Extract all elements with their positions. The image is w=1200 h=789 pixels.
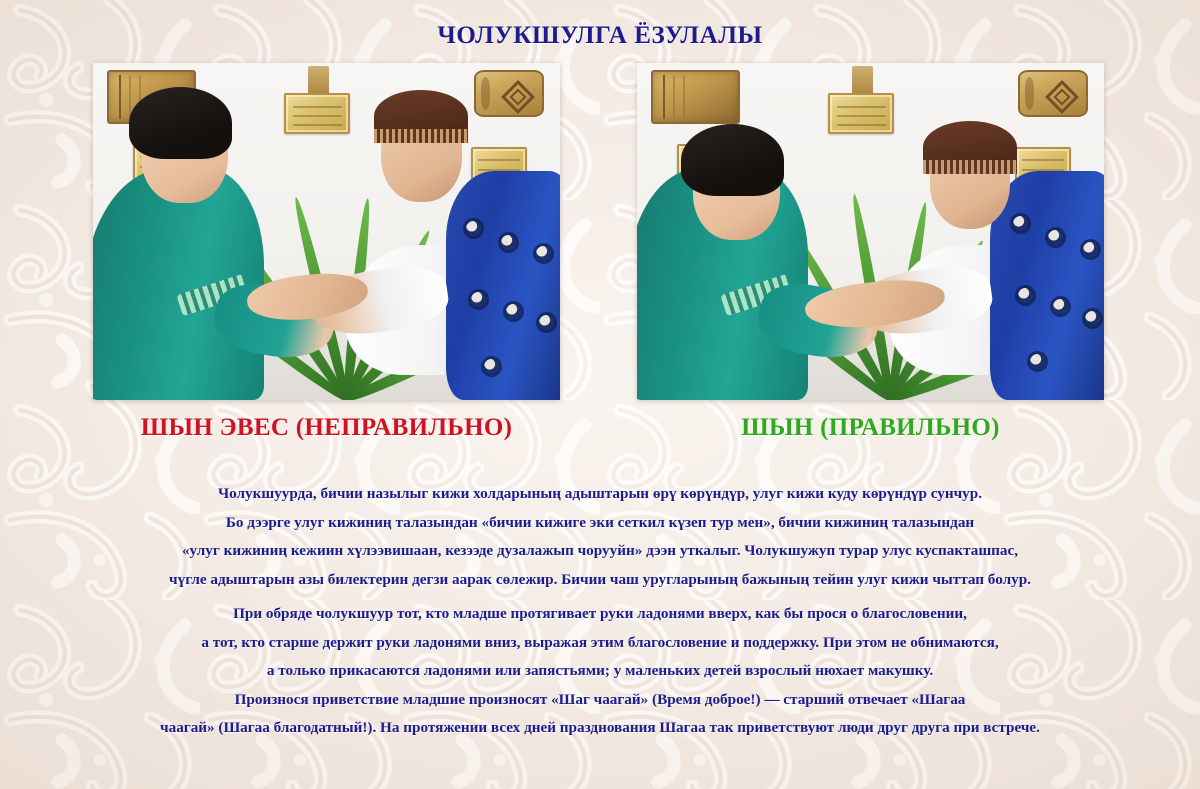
- tuvan-cap: [374, 90, 468, 143]
- russian-line: Произнося приветствие младшие произносят…: [0, 686, 1200, 715]
- tuvan-line: Бо дээрге улуг кижиниң талазындан «бичии…: [0, 509, 1200, 538]
- woman-hair: [681, 124, 784, 196]
- page-title: ЧОЛУКШУЛГА ЁЗУЛАЛЫ: [0, 22, 1200, 50]
- russian-line: При обряде чолукшуур тот, кто младше про…: [0, 600, 1200, 629]
- wall-peg-icon: [852, 66, 873, 96]
- russian-description: При обряде чолукшуур тот, кто младше про…: [0, 600, 1200, 743]
- tuvan-cap: [923, 121, 1017, 174]
- photo-wrong-scene: [93, 63, 560, 400]
- wall-plaque: [284, 93, 349, 133]
- poster-canvas: ЧОЛУКШУЛГА ЁЗУЛАЛЫ: [0, 0, 1200, 789]
- woman-hair: [129, 87, 232, 159]
- elder-woman-figure: [93, 87, 289, 400]
- photo-wrong: [93, 63, 560, 400]
- tuvan-line: чүгле адыштарын азы билектерин дегзи аар…: [0, 566, 1200, 595]
- tuvan-description: Чолукшуурда, бичии назылыг кижи холдарын…: [0, 480, 1200, 594]
- wall-plaque: [828, 93, 893, 133]
- caption-correct: ШЫН (ПРАВИЛЬНО): [637, 414, 1104, 442]
- caption-wrong: ШЫН ЭВЕС (НЕПРАВИЛЬНО): [93, 414, 560, 442]
- blue-vest: [990, 171, 1104, 400]
- russian-line: а тот, кто старше держит руки ладонями в…: [0, 629, 1200, 658]
- wall-peg-icon: [308, 66, 329, 96]
- photo-correct-scene: [637, 63, 1104, 400]
- russian-line: а только прикасаются ладонями или запяст…: [0, 657, 1200, 686]
- blue-vest: [446, 171, 560, 400]
- young-man-figure: [889, 90, 1104, 400]
- tuvan-line: Чолукшуурда, бичии назылыг кижи холдарын…: [0, 480, 1200, 509]
- tuvan-line: «улуг кижиниң кежиин хүлээвишаан, кезээд…: [0, 537, 1200, 566]
- elder-woman-figure: [637, 87, 833, 400]
- photo-correct: [637, 63, 1104, 400]
- young-man-figure: [345, 90, 560, 400]
- russian-line: чаагай» (Шагаа благодатный!). На протяже…: [0, 714, 1200, 743]
